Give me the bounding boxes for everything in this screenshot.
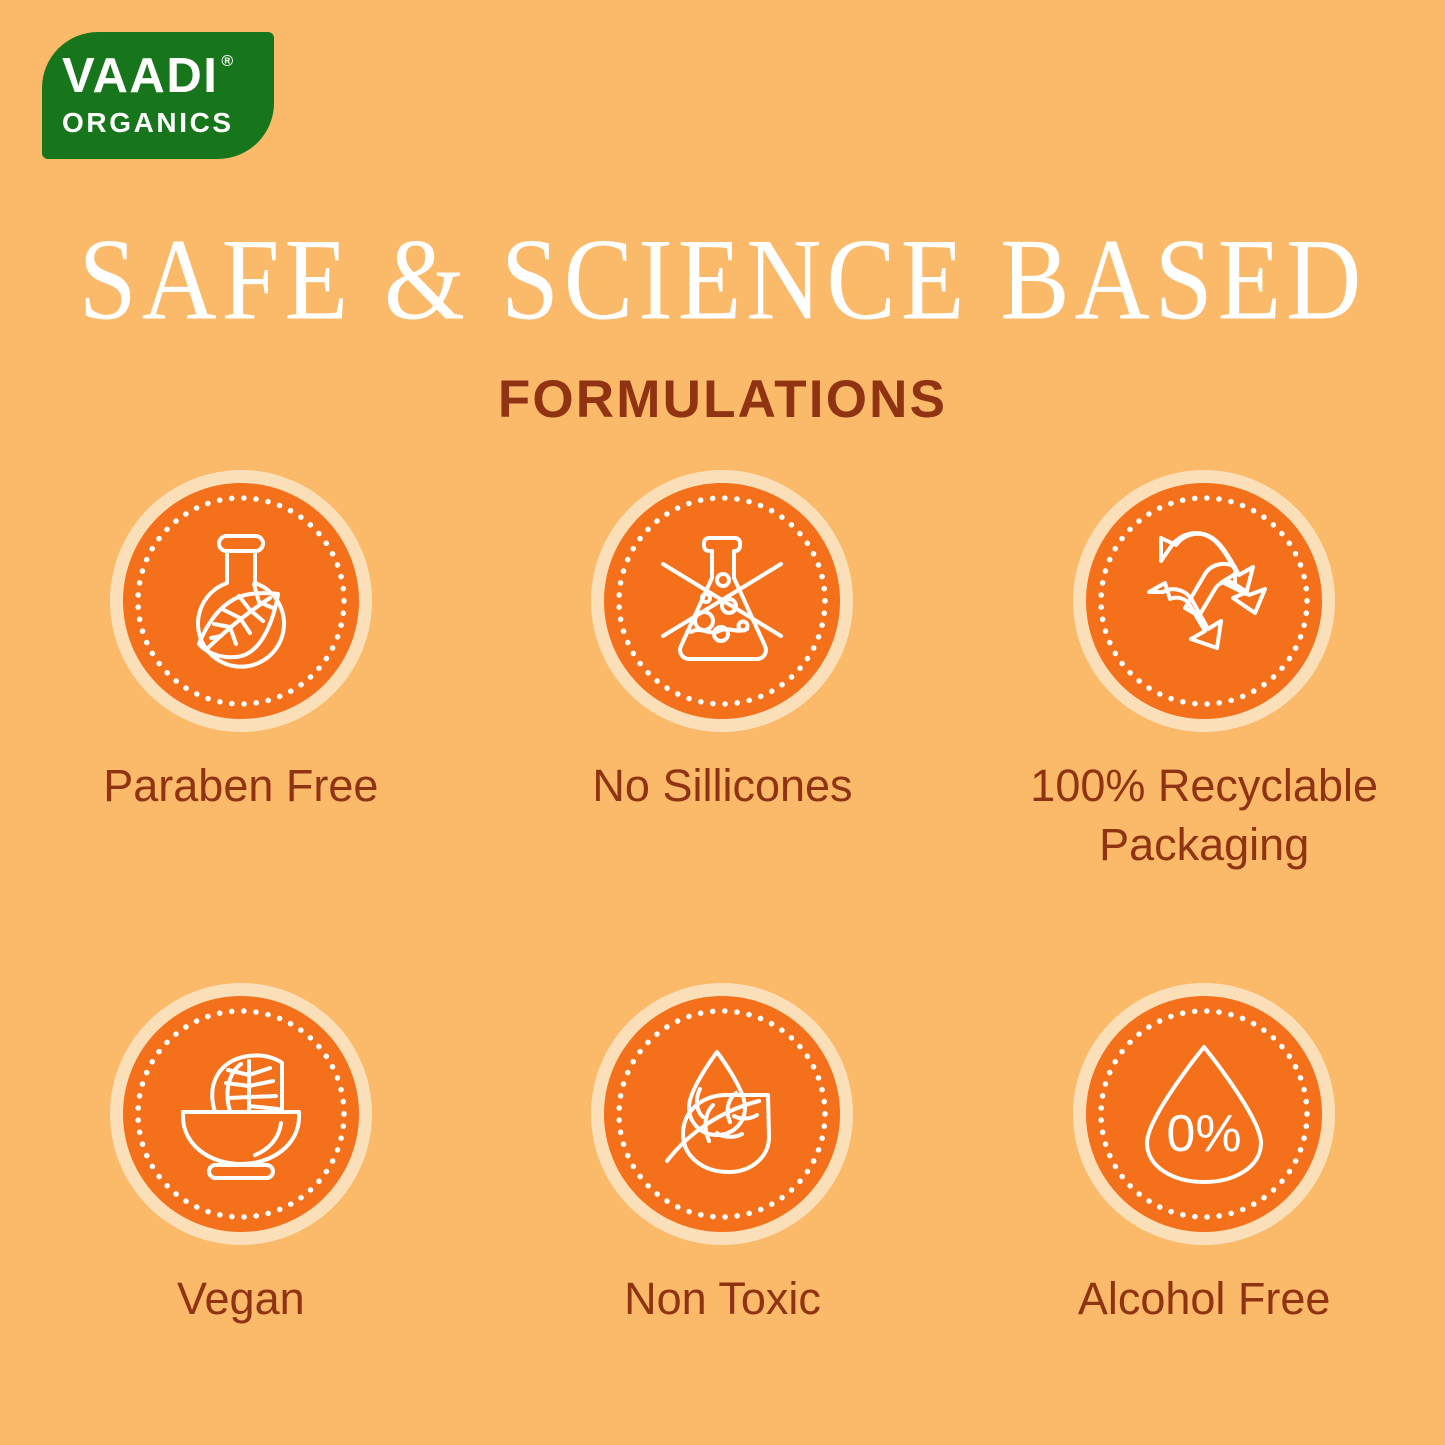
feature-badge: 0%: [1073, 983, 1335, 1245]
brand-name: VAADI: [62, 52, 218, 100]
feature-item-recyclable-packaging: 100% Recyclable Packaging: [963, 470, 1445, 875]
droplet-on-leaf-icon: [647, 1039, 797, 1189]
feature-item-paraben-free: Paraben Free: [0, 470, 482, 875]
feature-badge-disc: [1086, 483, 1322, 719]
bowl-with-leaf-icon: [166, 1039, 316, 1189]
zero-percent-droplet-icon: 0%: [1129, 1039, 1279, 1189]
feature-label: No Sillicones: [592, 756, 852, 815]
feature-label: Non Toxic: [624, 1269, 821, 1328]
feature-label: 100% Recyclable Packaging: [994, 756, 1414, 875]
feature-item-non-toxic: Non Toxic: [482, 983, 964, 1328]
feature-grid: Paraben Free: [0, 470, 1445, 1328]
feature-label: Alcohol Free: [1078, 1269, 1331, 1328]
feature-badge: [591, 470, 853, 732]
crossed-out-erlenmeyer-flask-icon: [647, 526, 797, 676]
feature-badge-disc: [604, 483, 840, 719]
feature-item-vegan: Vegan: [0, 983, 482, 1328]
feature-badge: [591, 983, 853, 1245]
zero-percent-label: 0%: [1167, 1105, 1242, 1163]
flask-with-leaf-icon: [166, 526, 316, 676]
feature-item-no-sillicones: No Sillicones: [482, 470, 964, 875]
brand-logo-primary-line: VAADI ®: [62, 52, 233, 100]
feature-badge: [110, 470, 372, 732]
feature-label: Vegan: [177, 1269, 305, 1328]
recycling-arrows-icon: [1129, 526, 1279, 676]
feature-item-alcohol-free: 0% Alcohol Free: [963, 983, 1445, 1328]
feature-badge-disc: 0%: [1086, 996, 1322, 1232]
brand-logo: VAADI ® ORGANICS: [42, 32, 274, 159]
feature-badge-disc: [123, 483, 359, 719]
feature-badge-disc: [123, 996, 359, 1232]
feature-label: Paraben Free: [103, 756, 378, 815]
registered-trademark-icon: ®: [221, 54, 233, 70]
feature-badge: [1073, 470, 1335, 732]
page-title: SAFE & SCIENCE BASED: [0, 222, 1445, 338]
brand-tagline: ORGANICS: [62, 107, 234, 139]
feature-badge: [110, 983, 372, 1245]
page-subtitle: FORMULATIONS: [0, 373, 1445, 426]
feature-badge-disc: [604, 996, 840, 1232]
